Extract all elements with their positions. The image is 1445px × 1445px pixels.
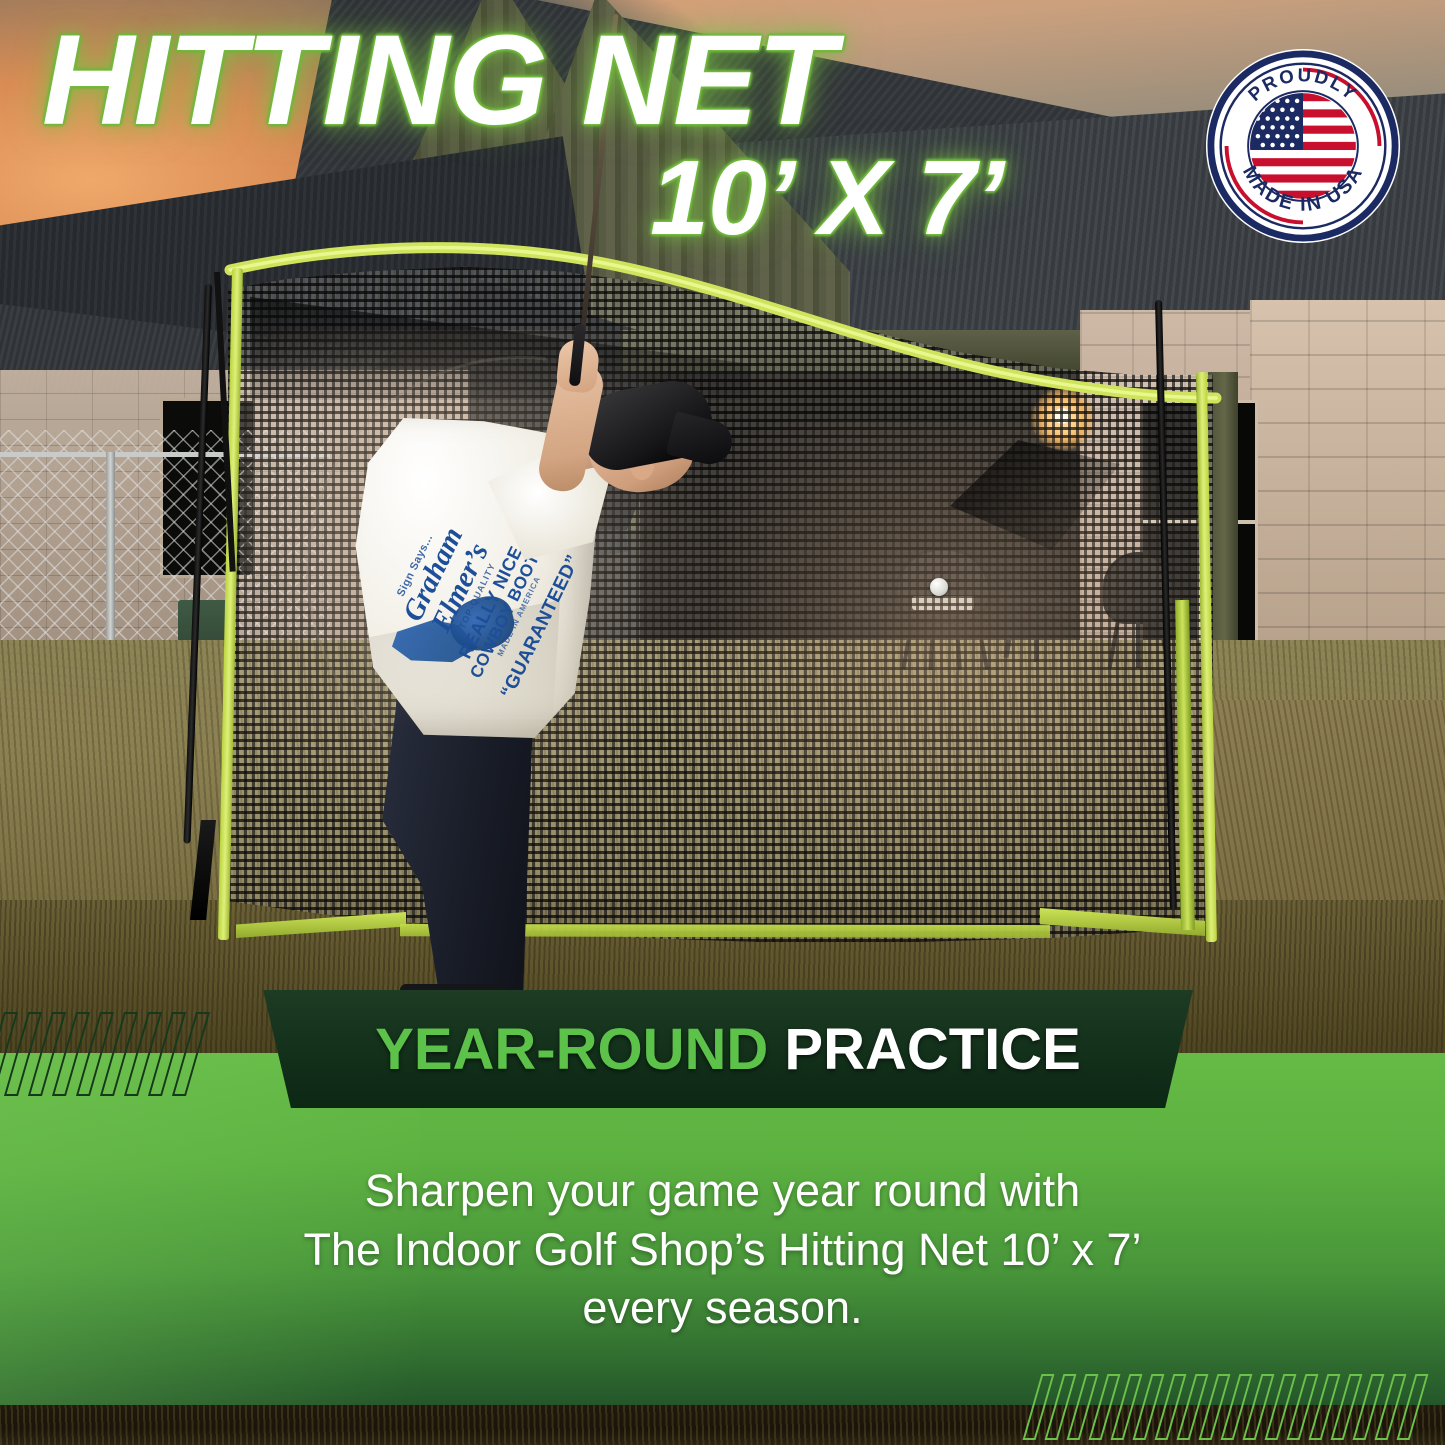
net-pole-foot-left <box>190 820 216 920</box>
banner-highlight: YEAR-ROUND <box>375 1017 768 1082</box>
banner-rest: PRACTICE <box>768 1017 1081 1082</box>
made-in-usa-badge: PROUDLY MADE IN USA <box>1205 48 1401 244</box>
description-text: Sharpen your game year round with The In… <box>0 1162 1445 1338</box>
decor-stripes-left <box>0 1012 202 1096</box>
hero-photo: Sign Says... Graham Elmer’s TOP-QUALITY … <box>0 0 1445 1060</box>
description-line-2: The Indoor Golf Shop’s Hitting Net 10’ x… <box>0 1221 1445 1280</box>
golfer-pants <box>368 700 548 1000</box>
section-banner-text: YEAR-ROUND PRACTICE <box>375 1016 1081 1083</box>
description-line-1: Sharpen your game year round with <box>0 1162 1445 1221</box>
description-line-3: every season. <box>0 1279 1445 1338</box>
product-infographic: Sign Says... Graham Elmer’s TOP-QUALITY … <box>0 0 1445 1445</box>
net-support-pole-left <box>184 284 212 844</box>
golf-ball <box>930 578 948 596</box>
decor-stripes-bottom-right <box>1032 1374 1445 1440</box>
section-banner: YEAR-ROUND PRACTICE <box>263 990 1193 1108</box>
made-in-usa-seal: PROUDLY MADE IN USA <box>1205 48 1401 244</box>
golfer: Sign Says... Graham Elmer’s TOP-QUALITY … <box>330 300 760 1000</box>
